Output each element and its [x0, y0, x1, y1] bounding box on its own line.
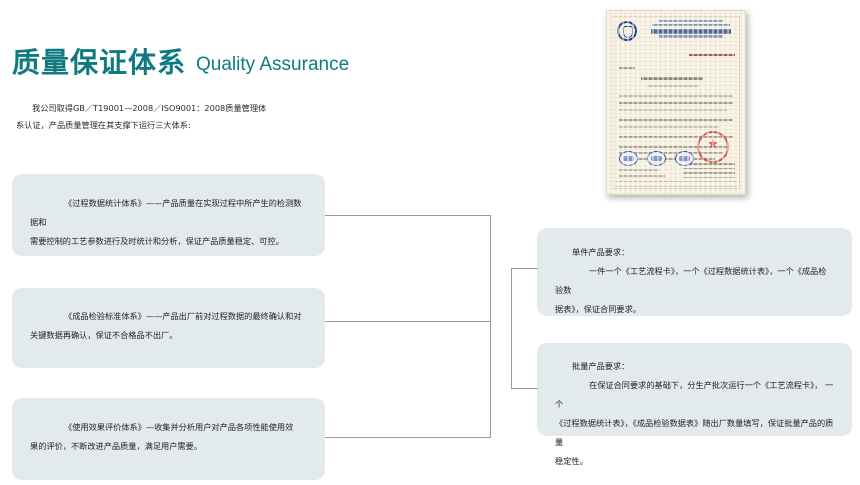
- certificate-signature-block: [683, 163, 735, 181]
- certificate-title-line-en: [659, 35, 723, 38]
- card-body: 《成品检验标准体系》——产品出厂前对过程数据的最终确认和对 关键数据再确认，保证…: [30, 307, 307, 345]
- page-title-en: Quality Assurance: [196, 54, 349, 76]
- certificate-text-line: [619, 169, 659, 171]
- connector-right-1: [511, 268, 538, 269]
- card-body: 《过程数据统计体系》——产品质量在实现过程中所产生的检测数据和 需要控制的工艺参…: [30, 194, 307, 251]
- card-single-product-requirement: 单件产品要求： 一件一个《工艺流程卡》，一个《过程数据统计表》，一个《成品检验数…: [537, 228, 852, 316]
- card-line-2: 需要控制的工艺参数进行及时统计和分析，保证产品质量稳定、可控。: [30, 232, 307, 251]
- certificate-text-line: [619, 102, 733, 104]
- accreditation-badge-iaf-icon: [647, 151, 666, 166]
- certificate-footer-line: [615, 186, 737, 188]
- certificate-text-line: [647, 85, 699, 87]
- card-heading: 批量产品要求：: [555, 357, 834, 376]
- card-body: 《使用效果评价体系》—收集并分析用户对产品各项性能使用效 果的评价，不断改进产品…: [30, 418, 307, 456]
- certificate-footer-line: [615, 181, 737, 183]
- card-usage-effect-evaluation-system: 《使用效果评价体系》—收集并分析用户对产品各项性能使用效 果的评价，不断改进产品…: [12, 398, 325, 480]
- connector-left-2: [325, 321, 491, 322]
- card-finished-product-inspection-system: 《成品检验标准体系》——产品出厂前对过程数据的最终确认和对 关键数据再确认，保证…: [12, 288, 325, 368]
- quality-assurance-slide: 质量保证体系 Quality Assurance 我公司取得GB／T19001—…: [0, 0, 860, 485]
- card-line-1: 在保证合同要求的基础下，分生产批次运行一个《工艺流程卡》， 一个: [555, 376, 834, 414]
- certification-body-logo-icon: [617, 21, 637, 41]
- card-line-1: 《过程数据统计体系》——产品质量在实现过程中所产生的检测数据和: [30, 194, 307, 232]
- official-red-seal-icon: [697, 131, 729, 163]
- certificate-text-line: [619, 95, 733, 97]
- card-line-2: 据表》，保证合同要求。: [555, 300, 834, 319]
- intro-line-1: 我公司取得GB／T19001—2008／ISO9001：2008质量管理体: [16, 100, 306, 117]
- page-title-cn: 质量保证体系: [12, 48, 186, 78]
- certificate-text-line: [619, 109, 727, 111]
- quality-management-system-certificate-image: [606, 10, 746, 195]
- card-body: 单件产品要求： 一件一个《工艺流程卡》，一个《过程数据统计表》，一个《成品检验数…: [555, 243, 834, 319]
- certificate-text-line: [641, 77, 703, 80]
- card-body: 批量产品要求： 在保证合同要求的基础下，分生产批次运行一个《工艺流程卡》， 一个…: [555, 357, 834, 471]
- certificate-org-line-en: [652, 24, 729, 26]
- connector-right-2: [511, 388, 538, 389]
- intro-line-2: 系认证，产品质量管理在其支撑下运行三大体系:: [16, 117, 306, 134]
- connector-left-3: [325, 437, 491, 438]
- card-line-2: 果的评价，不断改进产品质量，满足用户需要。: [30, 437, 307, 456]
- certificate-number: [689, 54, 735, 56]
- certificate-title-line: [651, 29, 730, 34]
- signature-line: [683, 177, 735, 179]
- intro-paragraph: 我公司取得GB／T19001—2008／ISO9001：2008质量管理体 系认…: [16, 100, 306, 134]
- signature-line: [683, 168, 735, 170]
- card-heading: 单件产品要求：: [555, 243, 834, 262]
- card-process-data-statistics-system: 《过程数据统计体系》——产品质量在实现过程中所产生的检测数据和 需要控制的工艺参…: [12, 174, 325, 256]
- certificate-org-line: [659, 20, 723, 22]
- card-batch-product-requirement: 批量产品要求： 在保证合同要求的基础下，分生产批次运行一个《工艺流程卡》， 一个…: [537, 343, 852, 436]
- signature-line: [683, 172, 735, 174]
- accreditation-badge-cnas-icon: [619, 151, 638, 166]
- card-line-3: 稳定性。: [555, 452, 834, 471]
- connector-left-1: [325, 215, 491, 216]
- card-line-2: 《过程数据统计表》，《成品检验数据表》随出厂数量填写，保证批量产品的质量: [555, 414, 834, 452]
- page-title: 质量保证体系 Quality Assurance: [12, 48, 349, 78]
- card-line-1: 《成品检验标准体系》——产品出厂前对过程数据的最终确认和对: [30, 307, 307, 326]
- certificate-text-line: [619, 175, 665, 177]
- certificate-text-line: [619, 67, 635, 69]
- accreditation-badge-ias-icon: [675, 151, 694, 166]
- certificate-text-line: [619, 126, 719, 128]
- card-line-1: 一件一个《工艺流程卡》，一个《过程数据统计表》，一个《成品检验数: [555, 262, 834, 300]
- card-line-1: 《使用效果评价体系》—收集并分析用户对产品各项性能使用效: [30, 418, 307, 437]
- connector-spine-right: [511, 268, 512, 388]
- certificate-text-line: [619, 119, 733, 121]
- card-line-2: 关键数据再确认，保证不合格品不出厂。: [30, 326, 307, 345]
- connector-spine-lower: [490, 321, 491, 438]
- certificate-header: [645, 20, 737, 38]
- connector-spine-upper: [490, 215, 491, 322]
